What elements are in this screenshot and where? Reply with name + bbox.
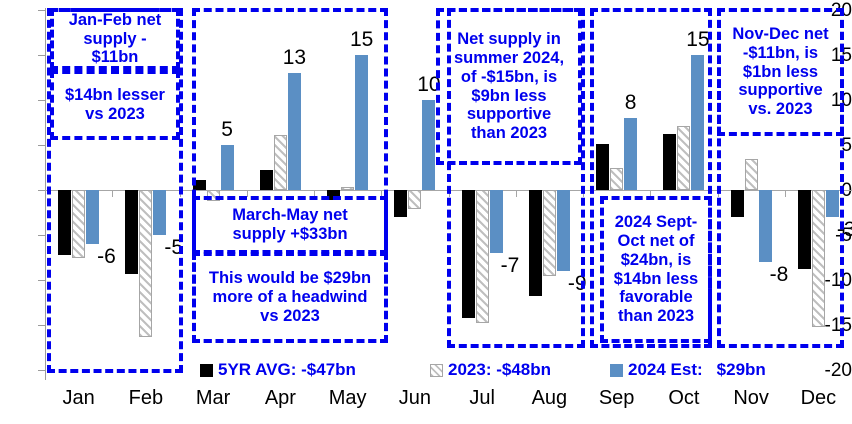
- y-axis-tick: [38, 280, 46, 281]
- annotation-line: March-May net: [200, 206, 380, 225]
- annotation-line: 2024 Sept-: [608, 213, 704, 232]
- legend-swatch-2024-icon: [610, 364, 623, 377]
- x-axis-label-jul: Jul: [449, 388, 516, 408]
- x-axis-label-aug: Aug: [516, 388, 583, 408]
- legend-swatch-5yr-avg-icon: [200, 364, 213, 377]
- annotation-summer-net-supply: Net supply in summer 2024, of -$15bn, is…: [436, 8, 582, 165]
- legend-item-5yr-avg[interactable]: 5YR AVG: -$47bn: [200, 360, 356, 380]
- x-axis-label-nov: Nov: [718, 388, 785, 408]
- annotation-nov-dec-net: Nov-Dec net -$11bn, is $1bn less support…: [717, 8, 844, 136]
- net-supply-bar-chart: 20151050-5-10-15-20 -6Jan-5Feb5Mar13Apr1…: [0, 0, 852, 424]
- bar-jun-2024-est: [422, 100, 435, 190]
- bar-jun-5yr-avg: [394, 190, 407, 217]
- x-axis-label-feb: Feb: [112, 388, 179, 408]
- x-axis-label-may: May: [314, 388, 381, 408]
- x-axis-label-sep: Sep: [583, 388, 650, 408]
- x-axis-label-mar: Mar: [180, 388, 247, 408]
- annotation-line: vs. 2023: [725, 100, 836, 119]
- annotation-line: vs 2023: [58, 105, 172, 124]
- annotation-line: $9bn less: [444, 87, 574, 106]
- y-axis-tick: [38, 325, 46, 326]
- y-axis-tick: [38, 100, 46, 101]
- chart-legend: 5YR AVG: -$47bn 2023: -$48bn 2024 Est: $…: [45, 360, 852, 384]
- annotation-line: supply -: [58, 30, 172, 49]
- annotation-line: Net supply in: [444, 30, 574, 49]
- annotation-line: $24bn, is: [608, 251, 704, 270]
- annotation-march-may-headwind: This would be $29bn more of a headwind v…: [192, 252, 388, 343]
- x-axis-label-apr: Apr: [247, 388, 314, 408]
- legend-value-2024-est: $29bn: [717, 360, 766, 380]
- legend-label-2024-est: 2024 Est:: [628, 360, 703, 380]
- annotation-line: Oct net of: [608, 232, 704, 251]
- annotation-line: $14bn less: [608, 270, 704, 289]
- legend-item-2023[interactable]: 2023: -$48bn: [430, 360, 551, 380]
- legend-item-2024-est[interactable]: 2024 Est: $29bn: [610, 360, 766, 380]
- annotation-sept-oct-net: 2024 Sept- Oct net of $24bn, is $14bn le…: [600, 196, 712, 343]
- annotation-line: Jan-Feb net: [58, 11, 172, 30]
- x-axis-label-dec: Dec: [785, 388, 852, 408]
- annotation-line: of -$15bn, is: [444, 68, 574, 87]
- legend-label-5yr-avg: 5YR AVG: -$47bn: [218, 360, 356, 380]
- y-axis-tick: [38, 55, 46, 56]
- annotation-line: favorable: [608, 288, 704, 307]
- annotation-line: This would be $29bn: [200, 269, 380, 288]
- annotation-line: supportive: [725, 81, 836, 100]
- annotation-line: supportive: [444, 105, 574, 124]
- annotation-line: Nov-Dec net: [725, 25, 836, 44]
- annotation-line: than 2023: [608, 307, 704, 326]
- x-axis-label-oct: Oct: [650, 388, 717, 408]
- annotation-march-may-net: March-May net supply +$33bn: [192, 196, 388, 254]
- y-axis-tick: [38, 145, 46, 146]
- legend-swatch-2023-icon: [430, 364, 443, 377]
- annotation-line: $11bn: [58, 48, 172, 67]
- y-axis-tick: [38, 10, 46, 11]
- annotation-jan-feb-net-supply: Jan-Feb net supply - $11bn: [50, 8, 180, 70]
- annotation-line: $14bn lesser: [58, 86, 172, 105]
- annotation-line: vs 2023: [200, 307, 380, 326]
- annotation-line: more of a headwind: [200, 288, 380, 307]
- bar-jun-2023: [408, 190, 421, 209]
- annotation-line: than 2023: [444, 124, 574, 143]
- annotation-line: supply +$33bn: [200, 225, 380, 244]
- annotation-line: -$11bn, is: [725, 44, 836, 63]
- legend-label-2023: 2023: -$48bn: [448, 360, 551, 380]
- x-axis-label-jun: Jun: [381, 388, 448, 408]
- annotation-jan-feb-lesser: $14bn lesser vs 2023: [50, 70, 180, 140]
- x-axis-label-jan: Jan: [45, 388, 112, 408]
- annotation-line: summer 2024,: [444, 49, 574, 68]
- y-axis-tick: [38, 235, 46, 236]
- annotation-line: $1bn less: [725, 63, 836, 82]
